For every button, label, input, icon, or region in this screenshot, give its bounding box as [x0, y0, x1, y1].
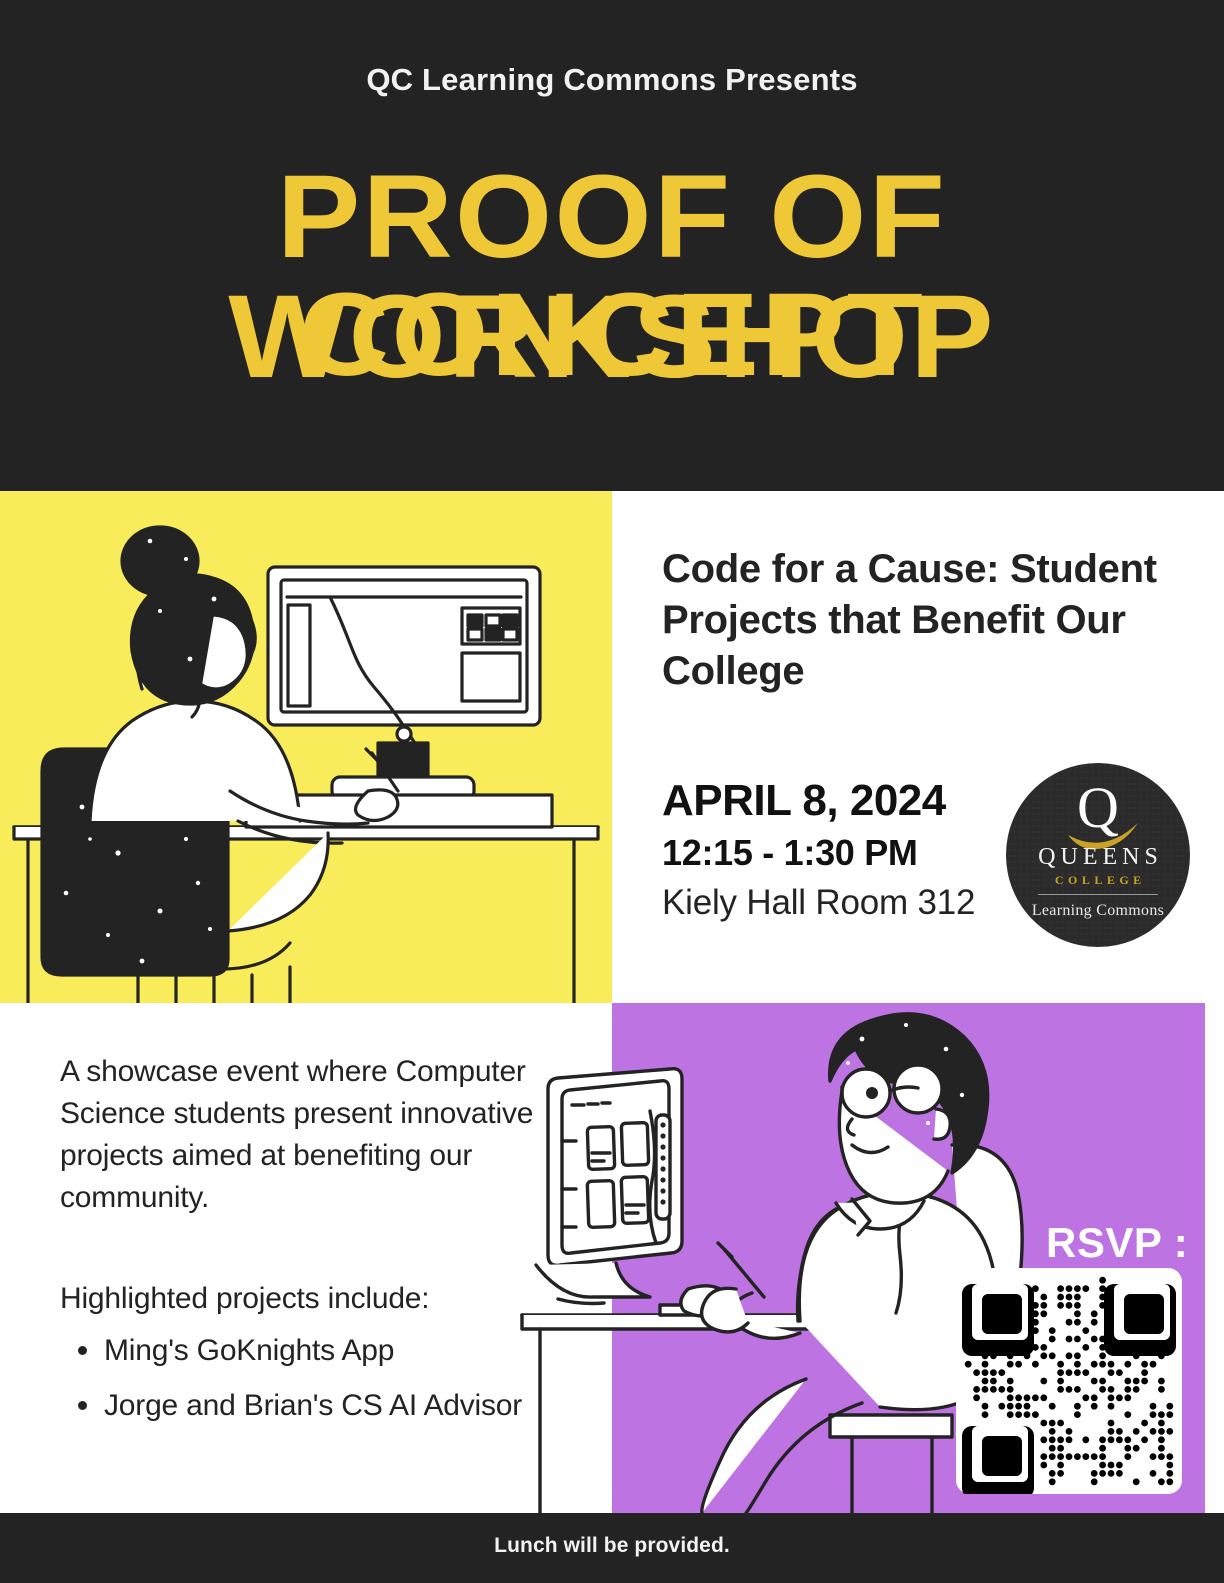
person-at-desktop-computer-icon — [0, 491, 612, 1003]
logo-monogram: Q — [1006, 779, 1190, 837]
event-location: Kiely Hall Room 312 — [662, 883, 975, 923]
list-item: Jorge and Brian's CS AI Advisor — [104, 1383, 644, 1428]
queens-college-learning-commons-logo: Q QUEENS COLLEGE Learning Commons — [1006, 763, 1190, 947]
event-details-column: Code for a Cause: Student Projects that … — [612, 491, 1224, 1003]
qr-code-icon[interactable] — [956, 1268, 1182, 1494]
poster-footer: Lunch will be provided. — [0, 1513, 1224, 1583]
poster: QC Learning Commons Presents Proof of Co… — [0, 0, 1224, 1583]
list-item: Ming's GoKnights App — [104, 1328, 644, 1373]
logo-divider — [1038, 894, 1158, 895]
event-title: Code for a Cause: Student Projects that … — [662, 544, 1182, 698]
footer-note: Lunch will be provided. — [0, 1534, 1224, 1558]
rsvp-qr-code[interactable] — [956, 1268, 1182, 1494]
description-column: A showcase event where Computer Science … — [0, 1003, 612, 1513]
logo-department: Learning Commons — [1006, 902, 1190, 920]
highlighted-projects-label: Highlighted projects include: — [60, 1278, 429, 1320]
poster-title-line-2: Workshop — [0, 278, 1224, 396]
left-illustration-panel — [0, 491, 612, 1003]
poster-header: QC Learning Commons Presents Proof of Co… — [0, 0, 1224, 491]
rsvp-label: RSVP : — [1046, 1219, 1188, 1267]
logo-name: QUEENS — [1006, 844, 1190, 871]
highlighted-projects-list: Ming's GoKnights App Jorge and Brian's C… — [60, 1328, 644, 1438]
event-date: APRIL 8, 2024 — [662, 776, 946, 826]
presenter-line: QC Learning Commons Presents — [0, 62, 1224, 98]
event-time: 12:15 - 1:30 PM — [662, 832, 918, 874]
logo-subname: COLLEGE — [1006, 873, 1190, 888]
description-paragraph: A showcase event where Computer Science … — [60, 1051, 560, 1219]
